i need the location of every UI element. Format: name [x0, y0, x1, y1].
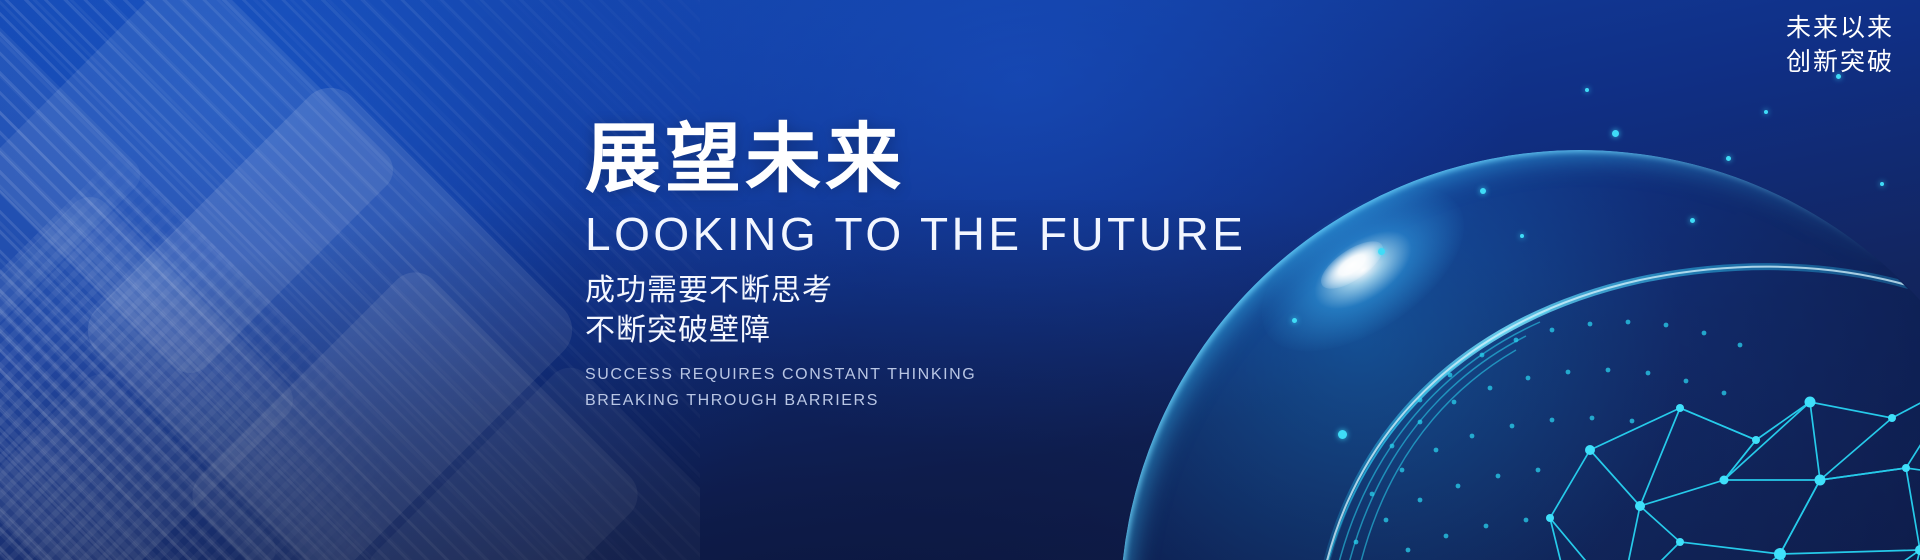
particle-dot — [1338, 430, 1347, 439]
tagline-en-line2: BREAKING THROUGH BARRIERS — [585, 388, 1345, 414]
promo-banner: 未来以来 创新突破 展望未来 LOOKING TO THE FUTURE 成功需… — [0, 0, 1920, 560]
decor-panel — [0, 366, 284, 560]
page-subtitle-en: LOOKING TO THE FUTURE — [585, 209, 1345, 260]
tagline-cn-line1: 成功需要不断思考 — [585, 271, 1345, 311]
tagline-en-line1: SUCCESS REQUIRES CONSTANT THINKING — [585, 362, 1345, 388]
tagline-cn-line2: 不断突破壁障 — [585, 311, 1345, 351]
particle-dot — [1585, 88, 1589, 92]
particle-dot — [1726, 156, 1731, 161]
tagline-cn: 成功需要不断思考 不断突破壁障 — [585, 271, 1345, 350]
decor-panel — [75, 75, 584, 560]
particle-dot — [1480, 188, 1486, 194]
particle-dot — [1764, 110, 1768, 114]
corner-tagline-line1: 未来以来 — [1786, 12, 1894, 46]
corner-tagline-line2: 创新突破 — [1786, 46, 1894, 80]
headline-block: 展望未来 LOOKING TO THE FUTURE 成功需要不断思考 不断突破… — [585, 120, 1345, 414]
decor-panel — [0, 0, 402, 382]
particle-dot — [1690, 218, 1695, 223]
decor-panel — [0, 188, 302, 560]
corner-tagline: 未来以来 创新突破 — [1786, 12, 1894, 79]
decor-panel — [182, 262, 649, 560]
particle-dot — [1612, 130, 1619, 137]
halftone-dot-grid — [0, 151, 459, 560]
particle-dot — [1520, 234, 1524, 238]
decor-panel — [0, 12, 148, 337]
particle-dot — [1880, 182, 1884, 186]
tagline-en: SUCCESS REQUIRES CONSTANT THINKING BREAK… — [585, 362, 1345, 414]
page-title: 展望未来 — [585, 120, 1345, 201]
particle-dot — [1378, 248, 1385, 255]
